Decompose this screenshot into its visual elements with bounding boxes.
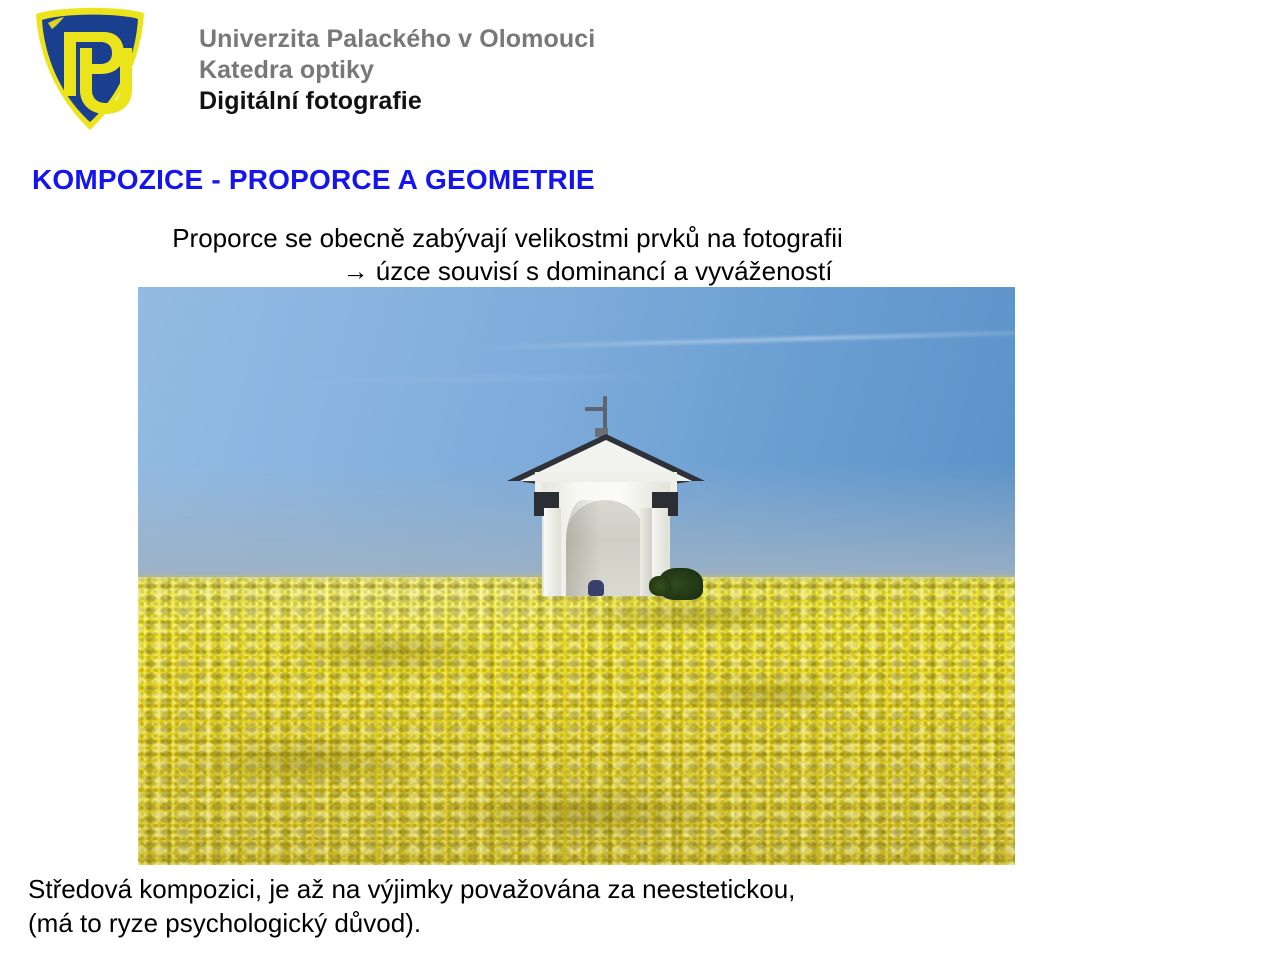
cross-icon — [603, 396, 607, 430]
wayside-chapel — [507, 396, 704, 595]
slide-caption: Středová kompozici, je až na výjimky pov… — [28, 872, 795, 940]
cross-icon-arm — [585, 407, 607, 411]
contrail-streak-secondary — [278, 375, 699, 383]
slide-header: Univerzita Palackého v Olomouci Katedra … — [0, 0, 1280, 140]
university-logo — [30, 4, 150, 132]
intro-text-block: Proporce se obecně zabývají velikostmi p… — [0, 222, 1015, 288]
header-line-department: Katedra optiky — [199, 55, 595, 86]
contrail-streak — [471, 331, 1015, 349]
header-line-university: Univerzita Palackého v Olomouci — [199, 24, 595, 55]
intro-line-2: → úzce souvisí s dominancí a vyvážeností — [0, 255, 1015, 288]
field-texture-coarse — [138, 577, 1015, 865]
chapel-foreground-object — [588, 580, 604, 596]
caption-line-2: (má to ryze psychologický důvod). — [28, 906, 795, 940]
header-text-block: Univerzita Palackého v Olomouci Katedra … — [199, 24, 595, 117]
slide-title: KOMPOZICE - PROPORCE A GEOMETRIE — [32, 164, 595, 196]
header-line-course: Digitální fotografie — [199, 86, 595, 117]
example-photograph — [138, 287, 1015, 865]
green-bush-small — [649, 576, 671, 596]
intro-line-1: Proporce se obecně zabývají velikostmi p… — [0, 222, 1015, 255]
caption-line-1: Středová kompozici, je až na výjimky pov… — [28, 872, 795, 906]
chapel-column-left — [544, 508, 562, 595]
photo-rapeseed-field — [138, 577, 1015, 865]
